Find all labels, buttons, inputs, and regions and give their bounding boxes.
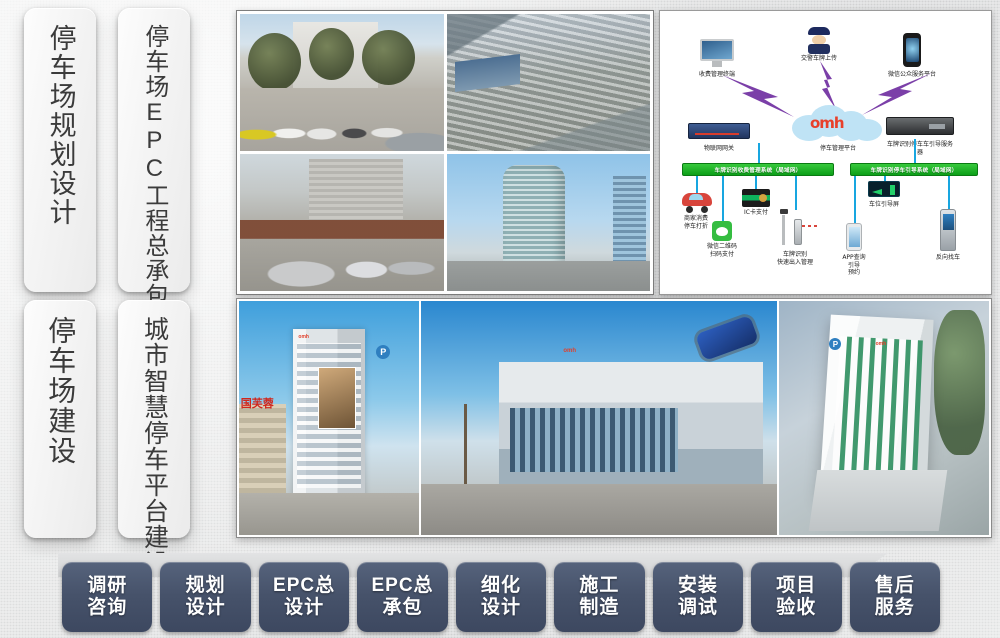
rendering-signage-text: 国芙蓉 (241, 395, 274, 411)
service-card-column: 停车场规划设计 停车场EPC工程总承包 停车场建设 城市智慧停车平台建设 (0, 0, 236, 545)
process-step-installation-commissioning[interactable]: 安装 调试 (653, 562, 743, 632)
diagram-node-label-iot-gateway: 物联网网关 (704, 145, 734, 153)
diagram-node-label-police-upload: 交警车牌上传 (801, 55, 837, 63)
service-card-parking-planning-design[interactable]: 停车场规划设计 (24, 8, 96, 292)
rendering-brand-logo: omh (563, 348, 576, 354)
diagram-item-label-guidance-screen: 车位引导屏 (869, 201, 899, 209)
photo-glass-office-tower (447, 154, 651, 291)
service-card-label: 城市智慧停车平台建设 (140, 316, 169, 576)
wire-gateway-to-toll-system (758, 143, 760, 163)
process-step-bar: 调研 咨询 规划 设计 EPC总 设计 EPC总 承包 细化 设计 施工 制造 … (62, 562, 940, 632)
process-step-planning-design[interactable]: 规划 设计 (160, 562, 250, 632)
ic-card-icon (742, 189, 770, 207)
guidance-screen-icon (868, 181, 900, 197)
diagram-item-label-wechat-qr: 微信二维码 扫码支付 (707, 243, 737, 258)
monitor-icon (700, 39, 734, 67)
parking-mark-icon: P (376, 345, 390, 359)
wire-to-merchant-discount (696, 176, 698, 194)
rendering-garage-facade-blue-car: omh (421, 301, 777, 535)
rendering-brand-logo: omh (876, 341, 887, 347)
service-card-label: 停车场建设 (44, 316, 76, 466)
system-architecture-diagram: omh 收费管理终端 交警车牌上传 微信公众服务平台 物联网网关 停车管理平台 … (659, 10, 992, 295)
process-step-research-consulting[interactable]: 调研 咨询 (62, 562, 152, 632)
diagram-node-label-toll-terminal: 收费管理终端 (699, 71, 735, 79)
photo-lot-brick-building (240, 154, 444, 291)
process-step-epc-overall-design[interactable]: EPC总 设计 (259, 562, 349, 632)
wire-to-reverse-finding (948, 176, 950, 210)
wire-to-wechat-qr (722, 176, 724, 222)
service-card-label: 停车场EPC工程总承包 (140, 24, 168, 308)
smartphone-icon (903, 33, 921, 67)
diagram-item-label-app-guidance: APP查询 引导 预约 (842, 254, 865, 277)
lifted-car-icon (695, 315, 759, 361)
diagram-node-label-wechat-platform: 微信公众服务平台 (888, 71, 936, 79)
process-step-detailed-design[interactable]: 细化 设计 (456, 562, 546, 632)
wire-server-to-guidance-system (914, 139, 916, 163)
rendering-brand-logo: omh (298, 334, 309, 340)
barrier-gate-icon (780, 209, 810, 247)
brand-logo: omh (810, 114, 844, 132)
process-step-project-acceptance[interactable]: 项目 验收 (751, 562, 841, 632)
wire-to-ic-card (755, 176, 757, 190)
service-card-parking-construction[interactable]: 停车场建设 (24, 300, 96, 538)
project-photo-grid (236, 10, 654, 295)
diagram-item-label-reverse-finding: 反向找车 (936, 254, 960, 262)
police-officer-icon (808, 27, 830, 53)
diagram-node-label-parking-platform: 停车管理平台 (820, 145, 856, 153)
diagram-item-label-merchant-discount: 商家消费 停车打折 (684, 215, 708, 230)
service-card-smart-city-platform[interactable]: 城市智慧停车平台建设 (118, 300, 190, 538)
rendering-garage-aerial-tower: P omh (779, 301, 989, 535)
system-bar-plate-guidance: 车牌识别停车引导系统（局域网） (850, 163, 978, 176)
rendering-garage-tower-street-view: 国芙蓉 omh P (239, 301, 419, 535)
car-icon (682, 193, 712, 213)
photo-aerial-parking-city (447, 14, 651, 151)
process-step-after-sales-service[interactable]: 售后 服务 (850, 562, 940, 632)
wechat-icon (712, 221, 732, 241)
diagram-node-label-guidance-server: 车牌识别停车车引导服务器 (885, 141, 956, 156)
kiosk-icon (940, 209, 956, 251)
service-card-parking-epc-contract[interactable]: 停车场EPC工程总承包 (118, 8, 190, 292)
photo-surface-lot-trees (240, 14, 444, 151)
wire-to-fast-access (795, 176, 797, 210)
wire-to-app-guidance (854, 176, 856, 224)
system-bar-plate-toll: 车牌识别收费管理系统（局域网） (682, 163, 834, 176)
app-phone-icon (846, 223, 862, 251)
iot-gateway-icon (688, 123, 750, 143)
process-step-construction-manufacturing[interactable]: 施工 制造 (554, 562, 644, 632)
process-step-epc-general-contract[interactable]: EPC总 承包 (357, 562, 447, 632)
diagram-item-label-ic-card: IC卡支付 (744, 209, 768, 217)
service-card-label: 停车场规划设计 (44, 24, 75, 227)
cloud-parking-platform-icon: omh (792, 103, 884, 143)
slide-canvas: 停车场规划设计 停车场EPC工程总承包 停车场建设 城市智慧停车平台建设 (0, 0, 1000, 638)
diagram-item-label-fast-access: 车牌识别 快速出入管理 (777, 251, 813, 266)
rack-server-icon (886, 117, 954, 139)
rendering-panel: 国芙蓉 omh P omh P omh (236, 298, 992, 538)
